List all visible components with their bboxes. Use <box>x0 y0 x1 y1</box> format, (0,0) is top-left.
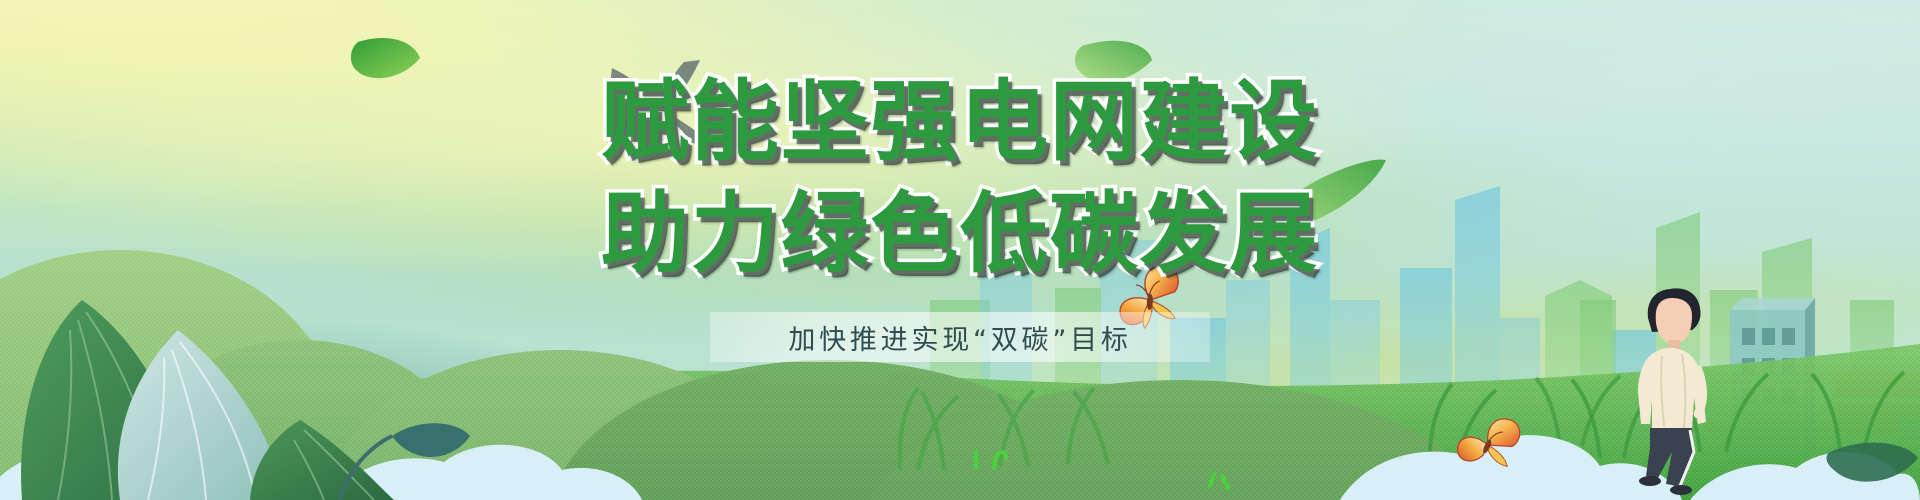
subtitle-band: 加快推进实现“双碳”目标 <box>710 312 1210 362</box>
butterfly-lower <box>1456 413 1521 468</box>
butterflies <box>0 0 1920 500</box>
eco-power-grid-banner: 赋能坚强电网建设 助力绿色低碳发展 加快推进实现“双碳”目标 <box>0 0 1920 500</box>
subtitle-text: 加快推进实现“双碳”目标 <box>788 318 1131 357</box>
